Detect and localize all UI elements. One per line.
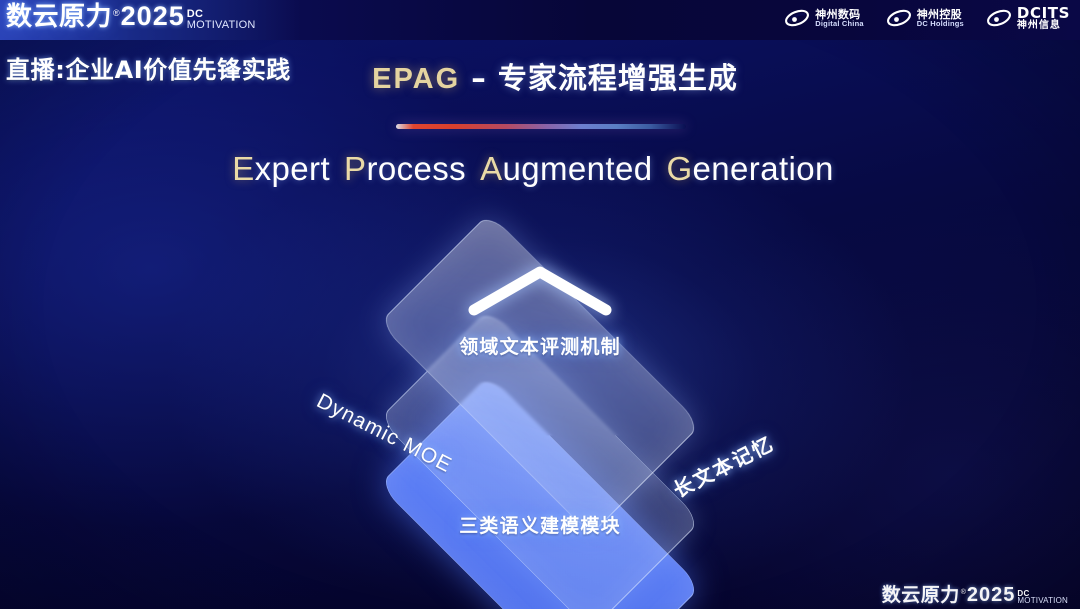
partner-text-dcits: DCITS 神州信息 [1017, 5, 1070, 32]
partner-name-en: Digital China [815, 20, 863, 28]
acronym-expansion: ExpertProcessAugmentedGeneration [0, 150, 1080, 188]
partner-logo-dc-holdings: 神州控股 DC Holdings [886, 8, 964, 28]
footer-brand-year: 2025 [967, 585, 1016, 605]
partner-text-dc-holdings: 神州控股 DC Holdings [917, 9, 964, 29]
swirl-logo-icon [986, 8, 1012, 28]
stack-layer-top-label: 领域文本评测机制 [459, 332, 621, 359]
partner-logo-digital-china: 神州数码 Digital China [784, 8, 863, 28]
expansion-tail: xpert [255, 150, 330, 187]
expansion-word-generation: Generation [666, 150, 833, 187]
title-divider [396, 124, 686, 129]
brand-dc-motivation: DC MOTIVATION [187, 9, 256, 30]
partner-logo-dcits: DCITS 神州信息 [986, 5, 1070, 32]
footer-brand-name-cn: 数云原力 [882, 586, 960, 605]
partner-name-cn: DCITS [1017, 5, 1070, 21]
brand-logo: 数云原力 ® 2025 DC MOTIVATION [6, 3, 256, 30]
footer-brand-dc-motivation: DC MOTIVATION [1017, 590, 1068, 605]
footer-registered-mark: ® [961, 589, 966, 596]
expansion-word-process: Process [344, 150, 466, 187]
brand-dc-line1: DC [187, 9, 256, 19]
live-subtitle: 直播:企业AI价值先锋实践 [6, 50, 291, 85]
brand-name-cn: 数云原力 [6, 4, 112, 30]
stack-layer-bottom-label: 三类语义建模模块 [459, 511, 621, 538]
expansion-word-augmented: Augmented [480, 150, 652, 187]
layered-stack-diagram: 领域文本评测机制 Dynamic MOE 长文本记忆 三类语义建模模块 [260, 228, 820, 558]
expansion-word-expert: Expert [232, 150, 330, 187]
brand-dc-line2: MOTIVATION [187, 20, 256, 30]
expansion-tail: ugmented [502, 150, 652, 187]
registered-mark: ® [113, 8, 120, 18]
expansion-initial: E [232, 150, 254, 187]
swirl-logo-icon [886, 8, 912, 28]
footer-brand-dc-line2: MOTIVATION [1017, 597, 1068, 605]
expansion-initial: P [344, 150, 366, 187]
partner-text-digital-china: 神州数码 Digital China [815, 9, 863, 29]
partner-name-en: DC Holdings [917, 20, 964, 28]
title-chinese: – 专家流程增强生成 [460, 61, 738, 95]
partner-name-en: 神州信息 [1017, 21, 1070, 32]
slide-canvas: 数云原力 ® 2025 DC MOTIVATION 直播:企业AI价值先锋实践 … [0, 0, 1080, 609]
expansion-initial: G [666, 150, 692, 187]
brand-year: 2025 [121, 3, 185, 30]
footer-brand-watermark: 数云原力 ® 2025 DC MOTIVATION [882, 585, 1068, 605]
expansion-initial: A [480, 150, 502, 187]
partner-logo-group: 神州数码 Digital China 神州控股 DC Holdings [784, 5, 1070, 32]
expansion-tail: eneration [693, 150, 834, 187]
title-acronym: EPAG [372, 63, 460, 95]
expansion-tail: rocess [366, 150, 466, 187]
swirl-logo-icon [784, 8, 810, 28]
